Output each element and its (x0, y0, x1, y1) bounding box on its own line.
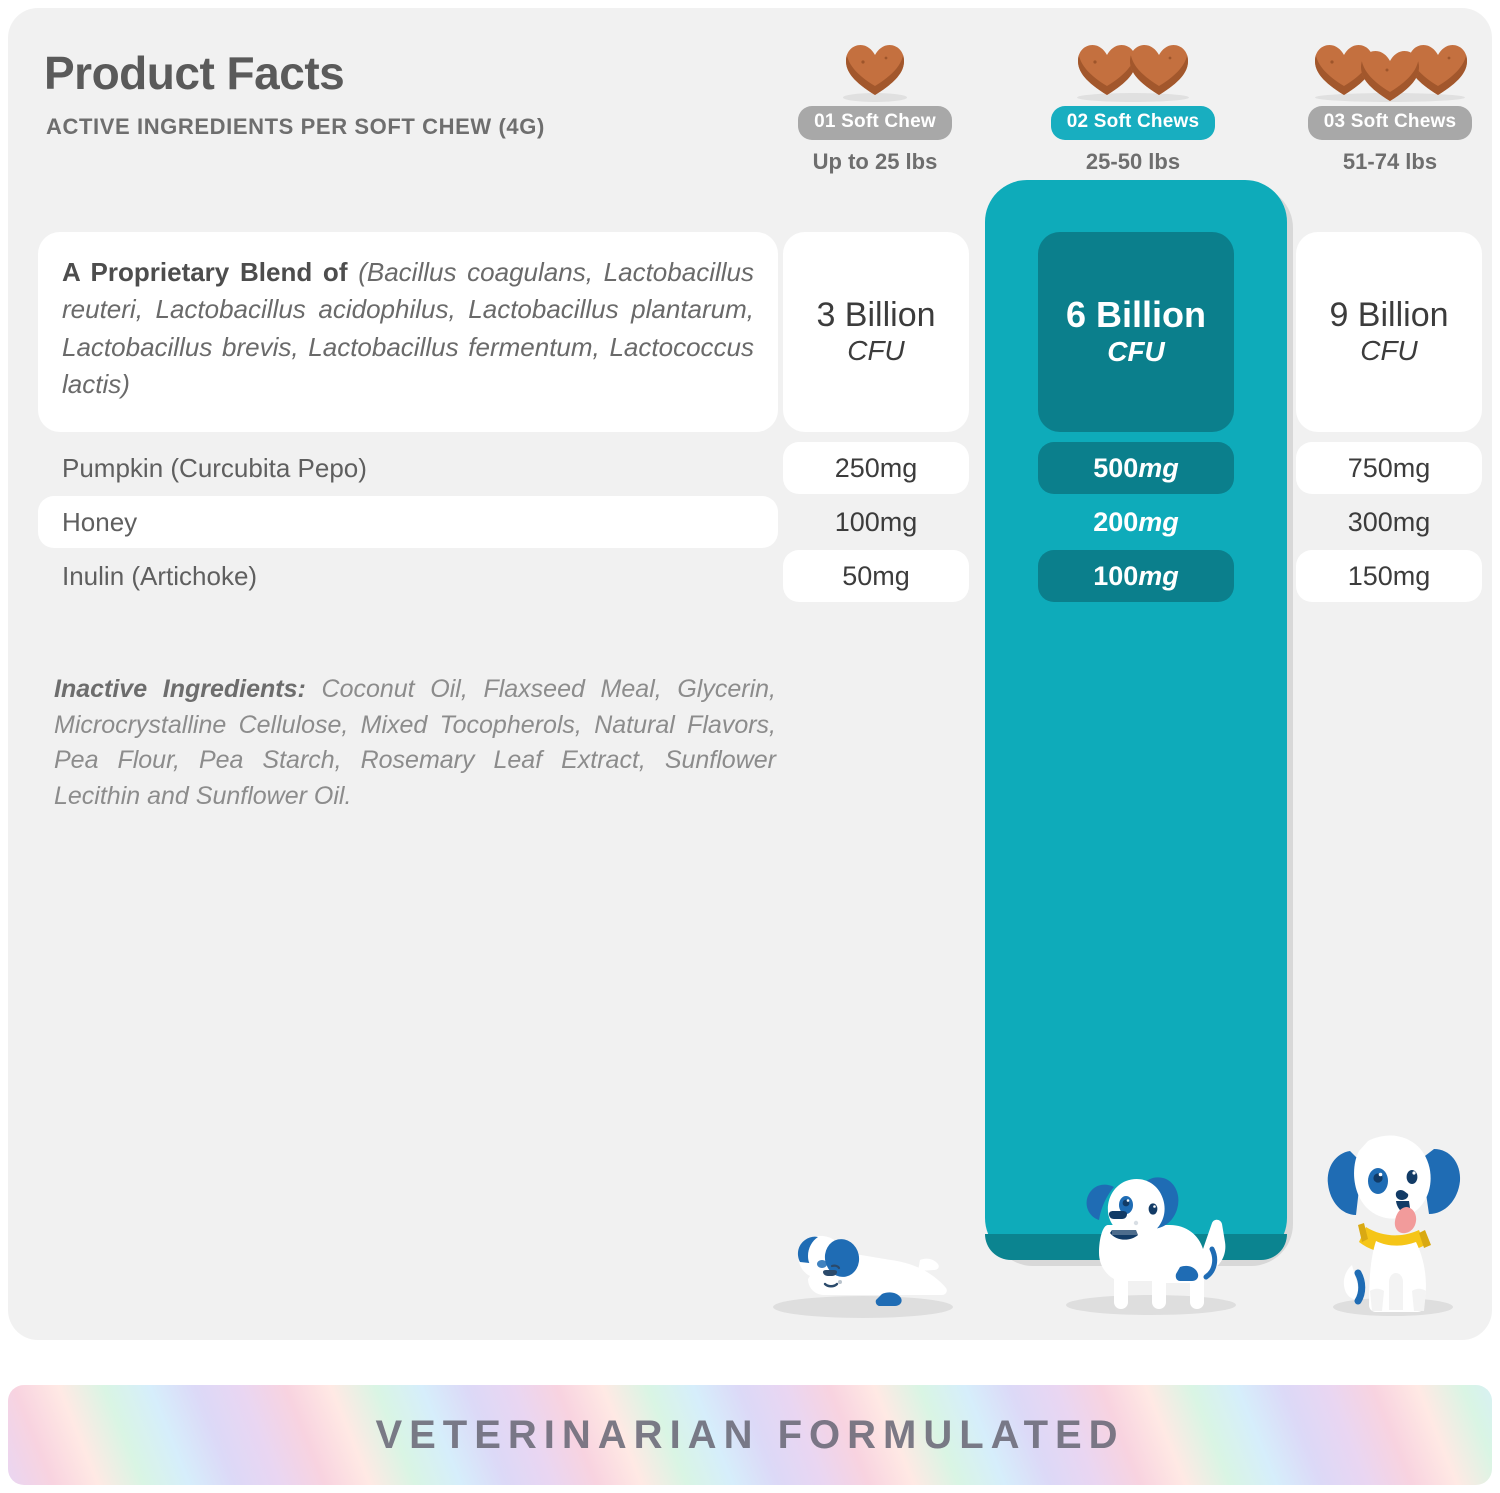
blend-unit-3: CFU (1360, 334, 1418, 368)
value-unit: mg (1393, 561, 1431, 591)
blend-lead: A Proprietary Blend of (62, 257, 358, 287)
inactive-ingredients: Inactive Ingredients: Coconut Oil, Flaxs… (54, 672, 776, 814)
ingredient-value-1: 50mg (783, 550, 969, 602)
value-unit: mg (1138, 507, 1179, 537)
soft-chew-icon (1359, 48, 1421, 104)
banner-text: VETERINARIAN FORMULATED (8, 1385, 1492, 1485)
value-unit: mg (880, 453, 918, 483)
value-unit: mg (872, 561, 910, 591)
blend-unit-1: CFU (847, 334, 905, 368)
blend-unit-2: CFU (1107, 335, 1165, 369)
ingredient-value-1: 100mg (783, 496, 969, 548)
value-unit: mg (1393, 507, 1431, 537)
blend-amount-2: 6 Billion (1066, 295, 1206, 335)
ingredient-value-2: 500mg (1038, 442, 1234, 494)
table-row: Pumpkin (Curcubita Pepo) 250mg 500mg 750… (8, 442, 1492, 494)
dose-badge-3: 03 Soft Chews (1308, 106, 1472, 140)
blend-amount-1: 3 Billion (816, 296, 935, 334)
ingredient-value-2: 200mg (1038, 496, 1234, 548)
ingredient-name: Honey (38, 496, 778, 548)
value-number: 750 (1348, 453, 1393, 483)
value-number: 50 (842, 561, 872, 591)
value-unit: mg (1393, 453, 1431, 483)
dose-column-header-2[interactable]: 02 Soft Chews 25-50 lbs (1038, 36, 1228, 175)
soft-chew-icon (1128, 42, 1190, 98)
page-title: Product Facts (44, 46, 344, 100)
blend-value-1: 3 Billion CFU (783, 232, 969, 432)
value-number: 300 (1348, 507, 1393, 537)
ingredient-value-3: 750mg (1296, 442, 1482, 494)
dose-weight-3: 51-74 lbs (1295, 149, 1485, 175)
table-row: Inulin (Artichoke) 50mg 100mg 150mg (8, 550, 1492, 602)
blend-value-3: 9 Billion CFU (1296, 232, 1482, 432)
blend-value-2: 6 Billion CFU (1038, 232, 1234, 432)
table-row: Honey 100mg 200mg 300mg (8, 496, 1492, 548)
soft-chew-icon (844, 42, 906, 98)
chew-icons-1 (780, 36, 970, 100)
dose-badge-2: 02 Soft Chews (1051, 106, 1215, 140)
value-number: 200 (1093, 507, 1138, 537)
ingredient-value-3: 300mg (1296, 496, 1482, 548)
value-unit: mg (1138, 561, 1179, 591)
dose-weight-2: 25-50 lbs (1038, 149, 1228, 175)
dose-badge-1: 01 Soft Chew (798, 106, 952, 140)
dose-weight-1: Up to 25 lbs (780, 149, 970, 175)
ingredients-table: A Proprietary Blend of (Bacillus coagula… (8, 232, 1492, 602)
ingredient-name: Pumpkin (Curcubita Pepo) (38, 442, 778, 494)
walking-dog-illustration (1048, 1163, 1248, 1323)
value-number: 100 (1093, 561, 1138, 591)
value-number: 500 (1093, 453, 1138, 483)
table-row-blend: A Proprietary Blend of (Bacillus coagula… (8, 232, 1492, 432)
ingredient-value-3: 150mg (1296, 550, 1482, 602)
product-facts-card: Product Facts ACTIVE INGREDIENTS PER SOF… (8, 8, 1492, 1340)
chew-icons-2 (1038, 36, 1228, 100)
veterinarian-formulated-banner: VETERINARIAN FORMULATED (8, 1385, 1492, 1485)
value-number: 150 (1348, 561, 1393, 591)
ingredient-value-1: 250mg (783, 442, 969, 494)
sitting-dog-illustration (1308, 1123, 1488, 1323)
value-unit: mg (1138, 453, 1179, 483)
dose-column-header-3[interactable]: 03 Soft Chews 51-74 lbs (1295, 36, 1485, 175)
value-number: 100 (835, 507, 880, 537)
value-number: 250 (835, 453, 880, 483)
page-subtitle: ACTIVE INGREDIENTS PER SOFT CHEW (4G) (46, 114, 545, 140)
dose-column-header-1[interactable]: 01 Soft Chew Up to 25 lbs (780, 36, 970, 175)
chew-icons-3 (1295, 36, 1485, 100)
inactive-lead: Inactive Ingredients: (54, 675, 306, 703)
blend-label-cell: A Proprietary Blend of (Bacillus coagula… (38, 232, 778, 432)
value-unit: mg (880, 507, 918, 537)
ingredient-value-2: 100mg (1038, 550, 1234, 602)
ingredient-name: Inulin (Artichoke) (38, 550, 778, 602)
blend-amount-3: 9 Billion (1329, 296, 1448, 334)
sleeping-dog-illustration (770, 1218, 960, 1323)
